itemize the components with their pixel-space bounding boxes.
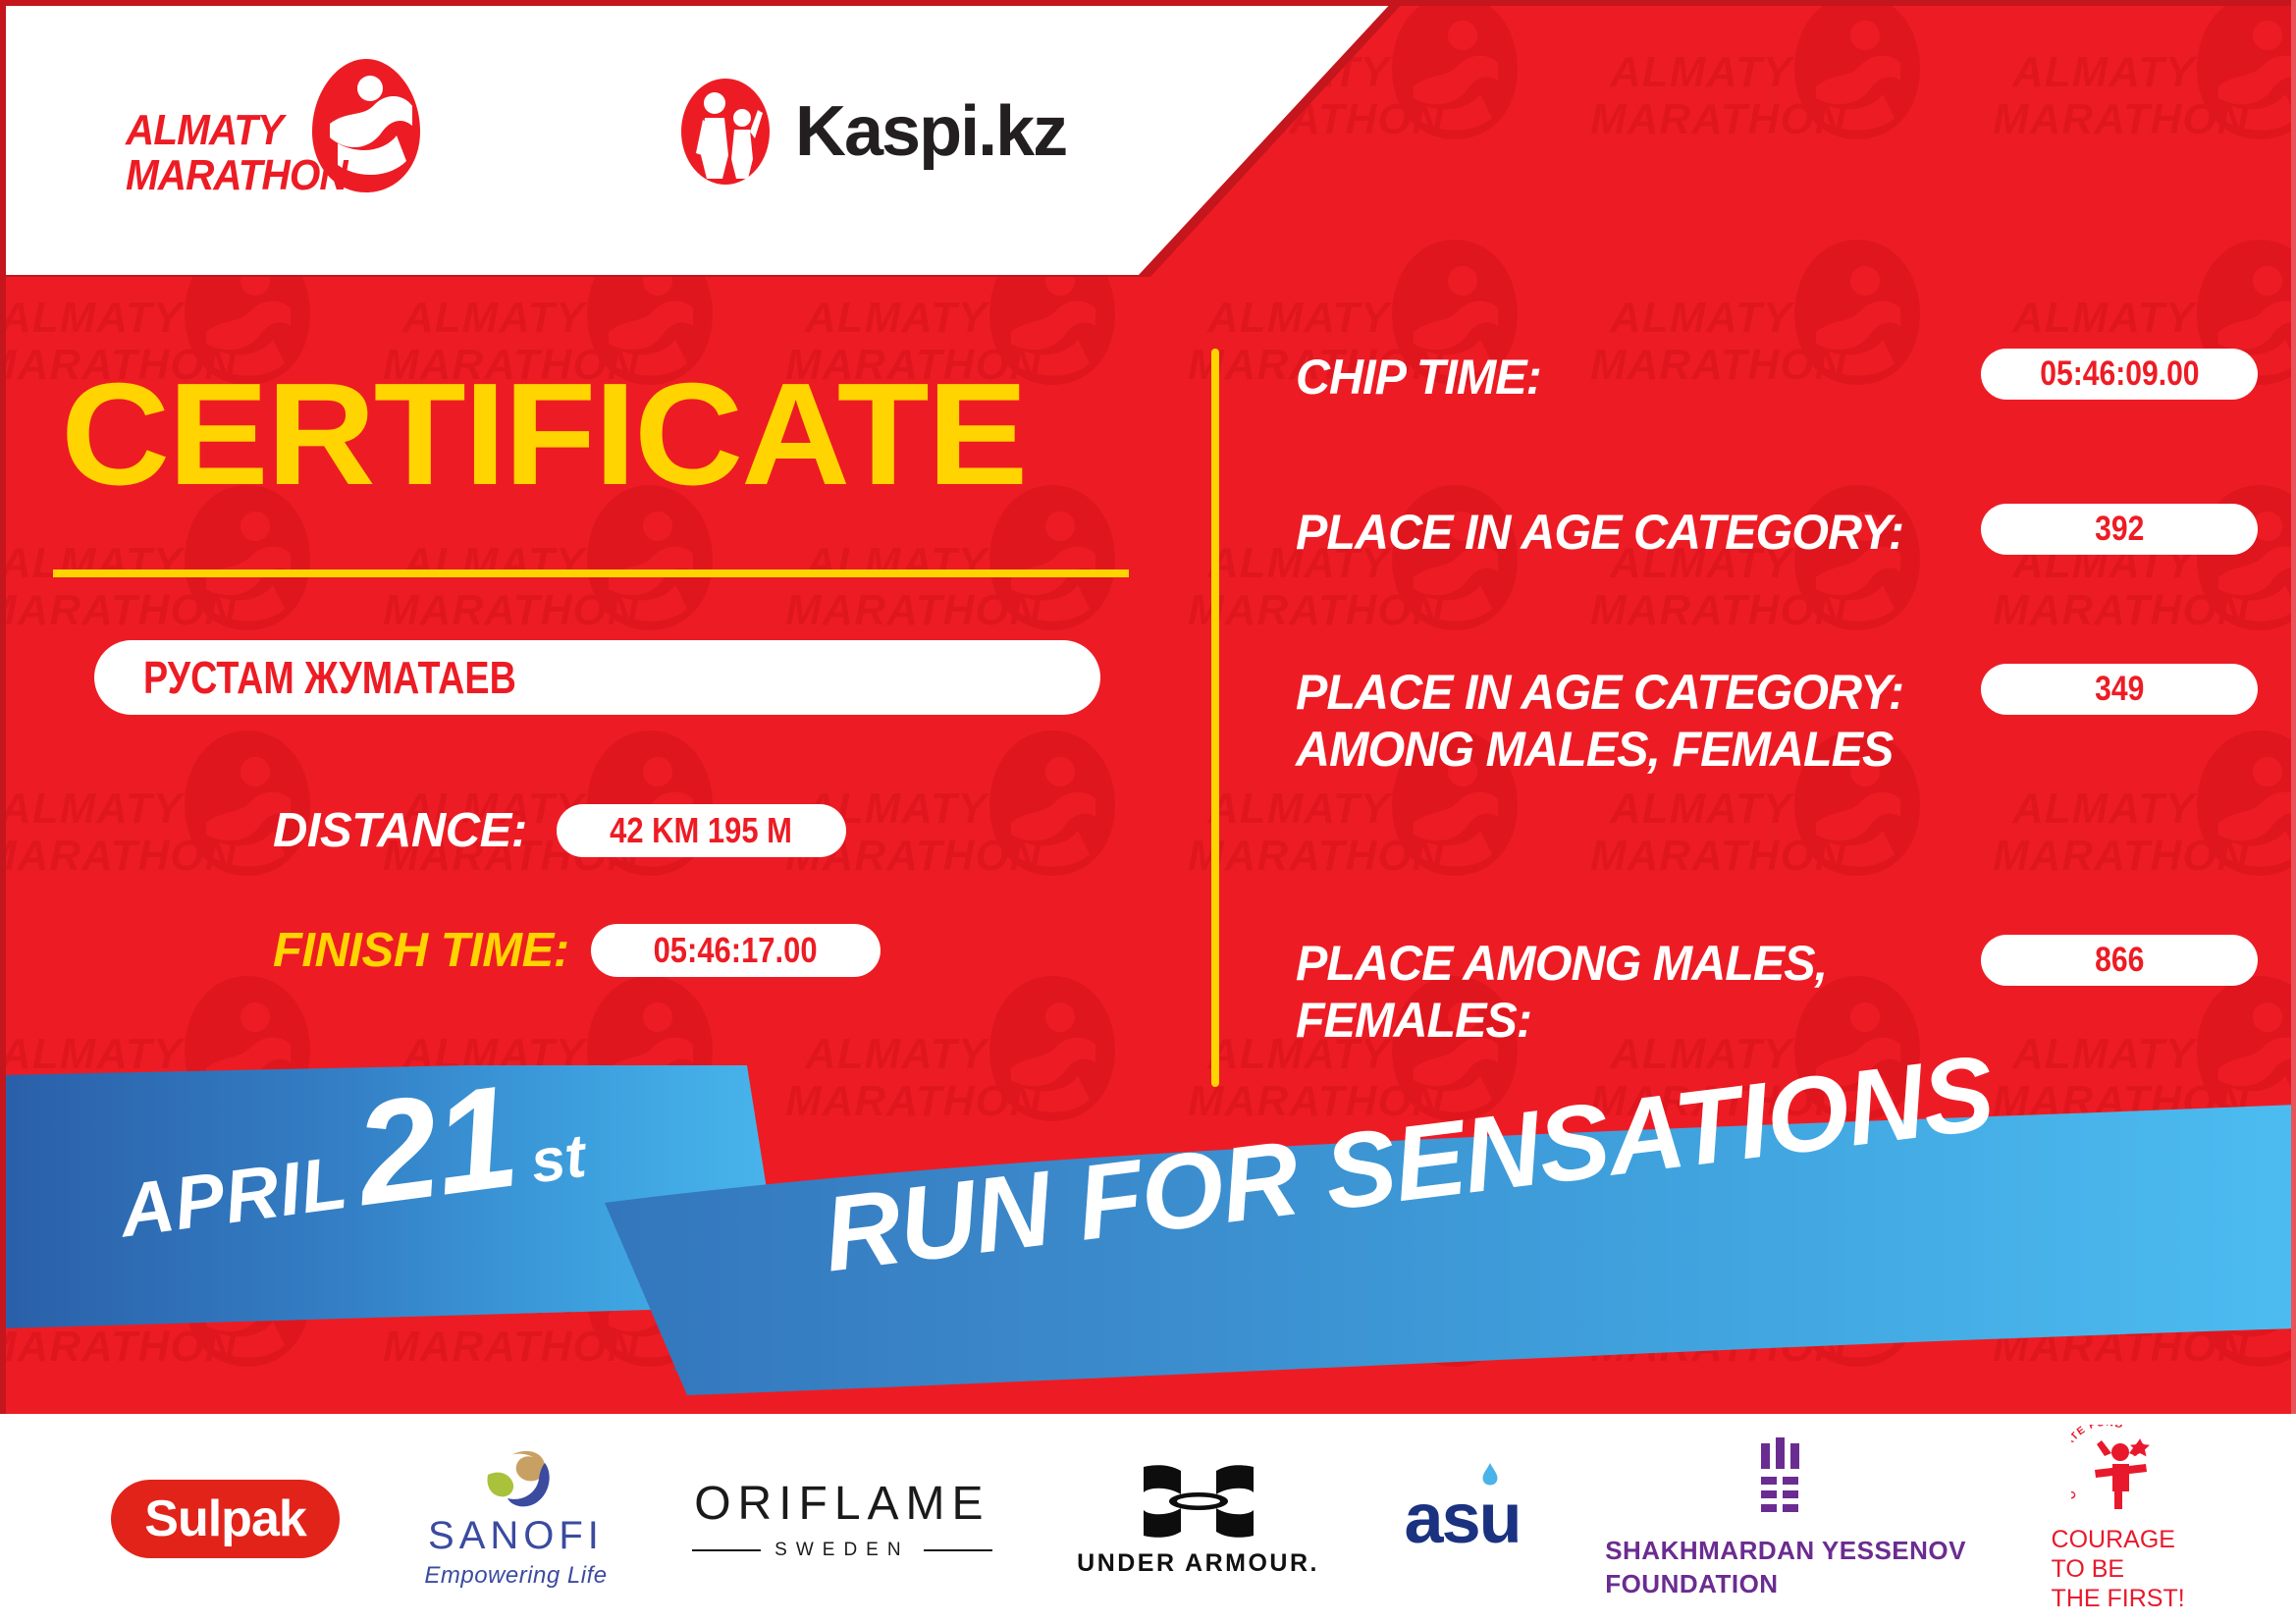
oriflame-wordmark: ORIFLAME (694, 1477, 989, 1531)
event-day: 21 (350, 1077, 522, 1215)
label-line-1: PLACE IN AGE CATEGORY: (1296, 664, 1936, 721)
sanofi-tagline: Empowering Life (424, 1562, 607, 1590)
event-day-suffix: st (527, 1121, 590, 1198)
asu-wordmark: asu (1405, 1479, 1521, 1559)
distance-label: DISTANCE: (273, 803, 527, 858)
courage-line-2: TO BE (2052, 1554, 2185, 1584)
chip-time-row: CHIP TIME: 05:46:09.00 (1296, 349, 2258, 406)
logo-line-marathon: MARATHON (126, 153, 306, 198)
results-column: CHIP TIME: 05:46:09.00 PLACE IN AGE CATE… (1296, 349, 2258, 747)
label-line-2: FEMALES: (1296, 992, 1936, 1049)
asu-logo: asu (1405, 1479, 1521, 1559)
label-line-1: PLACE AMONG MALES, (1296, 935, 1936, 992)
distance-value: 42 KM 195 M (610, 810, 792, 851)
top-border (0, 0, 2296, 6)
finish-time-value: 05:46:17.00 (654, 930, 818, 971)
sulpak-wordmark: Sulpak (111, 1480, 340, 1558)
sponsor-sanofi: SANOFI Empowering Life (424, 1449, 607, 1590)
courage-runner-icon: CORPORATE FUND (2071, 1425, 2165, 1515)
certificate-title: CERTIFICATE (61, 361, 1026, 509)
place-in-age-category-row: PLACE IN AGE CATEGORY: 392 (1296, 504, 2258, 561)
yessenov-line-2: FOUNDATION (1605, 1567, 1966, 1600)
place-in-age-category-label: PLACE IN AGE CATEGORY: (1296, 504, 1960, 561)
asu-droplet-icon (1481, 1463, 1499, 1487)
under-armour-wordmark: UNDER ARMOUR. (1077, 1549, 1319, 1578)
almaty-marathon-logo: ALMATY MARATHON (126, 57, 450, 214)
yessenov-mark-icon (1757, 1437, 1814, 1514)
sanofi-wordmark: SANOFI (428, 1514, 604, 1558)
label-line-2: AMONG MALES, FEMALES (1296, 721, 1936, 778)
place-among-males-females-row: PLACE AMONG MALES, FEMALES: 866 (1296, 935, 2258, 1049)
rule-left (692, 1549, 761, 1551)
courage-line-1: COURAGE (2052, 1525, 2185, 1554)
left-border (0, 0, 6, 1624)
place-in-age-category-value-pill: 392 (1981, 504, 2258, 555)
courage-wordmark: COURAGE TO BE THE FIRST! (2052, 1525, 2185, 1613)
column-divider (1211, 349, 1219, 1087)
sponsor-asu: asu (1405, 1479, 1521, 1559)
courage-line-3: THE FIRST! (2052, 1584, 2185, 1613)
title-underline (53, 569, 1129, 577)
athlete-name-field: РУСТАМ ЖУМАТАЕВ (94, 640, 1100, 715)
kaspi-wordmark: Kaspi.kz (795, 91, 1066, 172)
place-in-age-category-among-value: 349 (2095, 670, 2144, 709)
rule-right (924, 1549, 992, 1551)
distance-row: DISTANCE: 42 KM 195 M (273, 803, 846, 858)
finish-time-value-pill: 05:46:17.00 (591, 924, 881, 977)
yessenov-line-1: SHAKHMARDAN YESSENOV (1605, 1534, 1966, 1567)
place-in-age-category-among-row: PLACE IN AGE CATEGORY: AMONG MALES, FEMA… (1296, 664, 2258, 778)
finish-time-label: FINISH TIME: (273, 923, 569, 978)
place-among-males-females-label: PLACE AMONG MALES, FEMALES: (1296, 935, 1960, 1049)
under-armour-icon (1136, 1461, 1261, 1542)
chip-time-label: CHIP TIME: (1296, 349, 1960, 406)
place-in-age-category-among-value-pill: 349 (1981, 664, 2258, 715)
right-border (2291, 0, 2296, 1624)
oriflame-country: SWEDEN (774, 1540, 909, 1561)
header-content: ALMATY MARATHON Kaspi.kz (0, 0, 1139, 275)
kaspi-people-icon (677, 77, 774, 187)
distance-value-pill: 42 KM 195 M (557, 804, 846, 857)
logo-line-almaty: ALMATY (126, 108, 306, 153)
almaty-marathon-wordmark: ALMATY MARATHON (126, 108, 306, 198)
sponsor-yessenov-foundation: SHAKHMARDAN YESSENOV FOUNDATION (1605, 1437, 1966, 1600)
place-in-age-category-among-label: PLACE IN AGE CATEGORY: AMONG MALES, FEMA… (1296, 664, 1960, 778)
yessenov-wordmark: SHAKHMARDAN YESSENOV FOUNDATION (1605, 1534, 1966, 1600)
sponsor-under-armour: UNDER ARMOUR. (1077, 1461, 1319, 1578)
place-among-males-females-value: 866 (2095, 941, 2144, 980)
athlete-name: РУСТАМ ЖУМАТАЕВ (143, 651, 516, 704)
sponsor-strip: Sulpak SANOFI Empowering Life ORIFLAME S… (0, 1414, 2296, 1624)
finish-time-row: FINISH TIME: 05:46:17.00 (273, 923, 881, 978)
kaspi-logo: Kaspi.kz (677, 77, 1066, 187)
place-among-males-females-value-pill: 866 (1981, 935, 2258, 986)
sponsor-courage-fund: CORPORATE FUND COURAGE TO BE THE FIRST! (2052, 1425, 2185, 1613)
chip-time-value: 05:46:09.00 (2040, 354, 2199, 394)
sponsor-oriflame: ORIFLAME SWEDEN (692, 1477, 991, 1561)
place-in-age-category-value: 392 (2095, 510, 2144, 549)
sponsor-sulpak: Sulpak (111, 1480, 340, 1558)
sanofi-bird-icon (468, 1449, 562, 1510)
chip-time-value-pill: 05:46:09.00 (1981, 349, 2258, 400)
oriflame-subtext-wrap: SWEDEN (692, 1540, 991, 1561)
